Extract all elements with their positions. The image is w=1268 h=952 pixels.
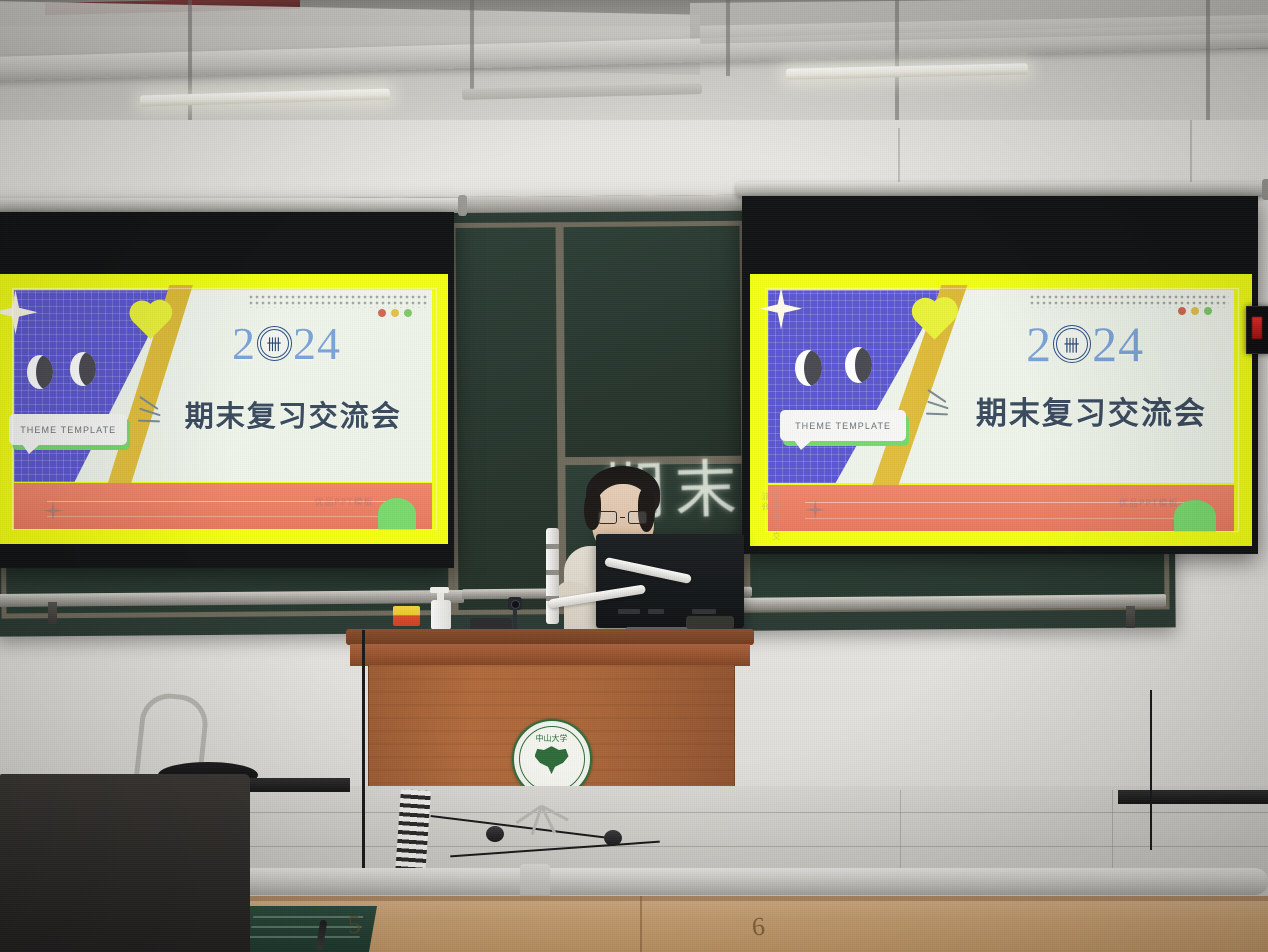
- slide-seal-glyph: 卌: [266, 333, 282, 354]
- bubble-tail-right: [794, 440, 812, 450]
- slide2-year: 2 卌 24: [1026, 315, 1144, 373]
- hanger-rod-2: [470, 0, 474, 96]
- camera-lens-icon: [511, 600, 520, 609]
- left-slide-artwork: THEME TEMPLATE 2 卌 24 期末复习交流会 优品PPT模板: [0, 274, 448, 544]
- floor-tile-vline-2: [900, 790, 901, 880]
- baseboard-right: [1118, 790, 1268, 804]
- slide-speed-lines: [138, 401, 164, 423]
- floor-tile-vline-3: [1112, 790, 1113, 880]
- podium-front-lip: [350, 644, 750, 666]
- slide-eye-left: [27, 355, 53, 389]
- slide-dot-yellow: [391, 309, 399, 317]
- slide2-orange-rule-2: [805, 518, 1197, 519]
- classroom-photo-scene: 期末复: [0, 0, 1268, 952]
- desk-seam: [640, 896, 642, 952]
- slide-year-prefix: 2: [232, 317, 256, 370]
- slide2-eye-left-pupil: [804, 350, 822, 386]
- hand-sanitizer[interactable]: [431, 600, 453, 632]
- slide2-traffic-dots: [1178, 307, 1212, 315]
- left-screen-roller[interactable]: [0, 198, 460, 213]
- slide2-speed-lines: [926, 394, 952, 416]
- mic-post-band-2: [546, 570, 559, 575]
- slide2-orange-band: 优品PPT模板: [768, 485, 1235, 531]
- slide2-eye-left: [795, 350, 822, 386]
- slide-orange-band: 优品PPT模板: [14, 483, 433, 529]
- monitor-port-3: [692, 609, 716, 614]
- seat-number-right: 6: [751, 912, 766, 943]
- sanitizer-pump-head[interactable]: [430, 587, 449, 593]
- bubble-tail: [22, 444, 40, 454]
- speaker-glasses: [598, 511, 647, 524]
- rail-clamp: [520, 864, 550, 900]
- slide2-speed-line-3: [926, 412, 948, 414]
- right-slide-artwork: THEME TEMPLATE 2 卌 24 期末复习交流会 优品PPT模板 期末…: [750, 274, 1252, 546]
- slide-year: 2 卌 24: [232, 317, 341, 370]
- slide-main-title: 期末复习交流会: [185, 393, 402, 435]
- slide2-watermark: 优品PPT模板: [1119, 496, 1178, 509]
- floor-cable-d: [1150, 690, 1152, 850]
- slide2-year-suffix: 24: [1092, 315, 1144, 373]
- left-projection-screen[interactable]: THEME TEMPLATE 2 卌 24 期末复习交流会 优品PPT模板: [0, 212, 454, 568]
- slide2-green-arc: [1174, 500, 1216, 532]
- slide2-university-seal: 卌: [1053, 325, 1091, 363]
- monitor-port-1: [618, 609, 640, 614]
- left-screen-pull-knob[interactable]: [458, 195, 467, 216]
- notebook-rule-3: [249, 936, 359, 938]
- chalk-box[interactable]: [393, 606, 420, 626]
- glasses-lens-left: [598, 511, 617, 524]
- slide2-dot-red: [1178, 307, 1186, 315]
- foreground-monitor-back: [0, 774, 250, 952]
- slide2-side-text: 期末复习交流会: [760, 492, 782, 546]
- chalk-tray-bracket-right: [1126, 606, 1135, 628]
- slide2-seal-glyph: 卌: [1064, 332, 1081, 356]
- right-screen-roller[interactable]: [736, 182, 1264, 197]
- podium-clutter-right: [686, 616, 734, 629]
- slide-university-seal: 卌: [257, 326, 292, 361]
- slide-dot-green: [404, 309, 412, 317]
- slide-traffic-dots: [378, 309, 412, 317]
- theme-template-label-right: THEME TEMPLATE: [795, 421, 891, 431]
- theme-template-badge: THEME TEMPLATE: [9, 414, 127, 445]
- sanitizer-bottle: [431, 600, 451, 630]
- led-clock-display: [1246, 306, 1268, 354]
- hanger-rod-3: [726, 0, 730, 76]
- slide-speed-line-3: [137, 420, 159, 422]
- chalk-tray-bracket-left: [48, 602, 57, 624]
- right-projection-screen[interactable]: THEME TEMPLATE 2 卌 24 期末复习交流会 优品PPT模板 期末…: [742, 196, 1258, 554]
- chair-caster-right: [604, 830, 622, 846]
- blackboard-panel-center-right: [558, 221, 746, 462]
- theme-template-label: THEME TEMPLATE: [20, 425, 116, 435]
- seat-number-left: 5: [347, 910, 362, 941]
- slide2-eye-right-pupil: [855, 347, 873, 383]
- mic-post-band-1: [546, 544, 559, 549]
- slide2-year-prefix: 2: [1026, 315, 1052, 373]
- podium-top-surface: [346, 629, 754, 645]
- slide2-dot-yellow: [1191, 307, 1199, 315]
- led-clock-digit: [1252, 317, 1262, 339]
- emblem-chinese-name: 中山大学: [536, 733, 568, 744]
- slide-year-suffix: 24: [293, 317, 341, 370]
- theme-template-badge-right: THEME TEMPLATE: [780, 410, 906, 441]
- podium-monitor[interactable]: [596, 534, 744, 628]
- slide-eye-right: [70, 352, 96, 386]
- right-screen-pull-knob[interactable]: [1262, 179, 1268, 200]
- slide-watermark: 优品PPT模板: [314, 495, 373, 508]
- notebook-rule-2: [251, 926, 361, 928]
- chair-caster-left: [486, 826, 504, 842]
- slide-green-arc: [378, 498, 416, 530]
- slide-dot-grid: [248, 294, 428, 308]
- slide-eye-left-pupil: [36, 355, 53, 389]
- cable-management-track: [395, 789, 431, 877]
- slide2-main-title: 期末复习交流会: [976, 388, 1207, 433]
- microphone-post: [546, 528, 559, 624]
- monitor-port-2: [648, 609, 664, 614]
- speaker-hair-right: [638, 488, 655, 532]
- glasses-lens-right: [628, 511, 647, 524]
- slide2-dot-green: [1204, 307, 1212, 315]
- desk-camera[interactable]: [508, 597, 522, 610]
- floor-cable-a: [362, 630, 365, 880]
- slide2-eye-right: [845, 347, 872, 383]
- glasses-bridge: [620, 517, 625, 519]
- slide-eye-right-pupil: [79, 352, 96, 386]
- slide-dot-red: [378, 309, 386, 317]
- slide-orange-rule-2: [47, 516, 399, 517]
